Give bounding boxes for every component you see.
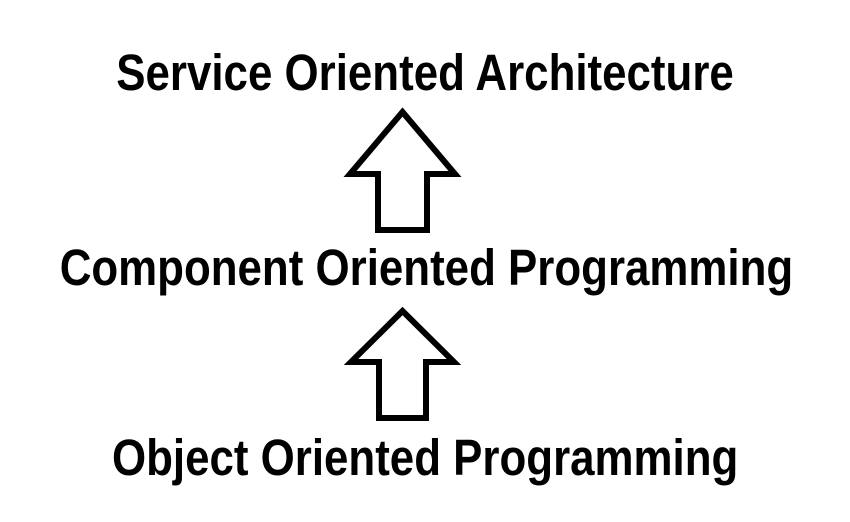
layer-label-text: Component Oriented Programming	[60, 242, 793, 293]
layer-label-text: Object Oriented Programming	[112, 432, 738, 483]
arrow-up-outline	[351, 311, 454, 418]
layer-label-service-oriented-architecture: Service Oriented Architecture	[0, 47, 850, 98]
layer-label-text: Service Oriented Architecture	[116, 47, 734, 98]
diagram-canvas: Service Oriented Architecture Component …	[0, 0, 850, 522]
layer-label-component-oriented-programming: Component Oriented Programming	[0, 242, 850, 293]
arrow-up-icon	[335, 305, 470, 425]
arrow-up-icon-object-to-component	[335, 305, 470, 425]
arrow-up-icon	[335, 106, 470, 236]
arrow-up-icon-component-to-service	[335, 106, 470, 236]
arrow-up-outline	[350, 112, 455, 230]
layer-label-object-oriented-programming: Object Oriented Programming	[0, 432, 850, 483]
